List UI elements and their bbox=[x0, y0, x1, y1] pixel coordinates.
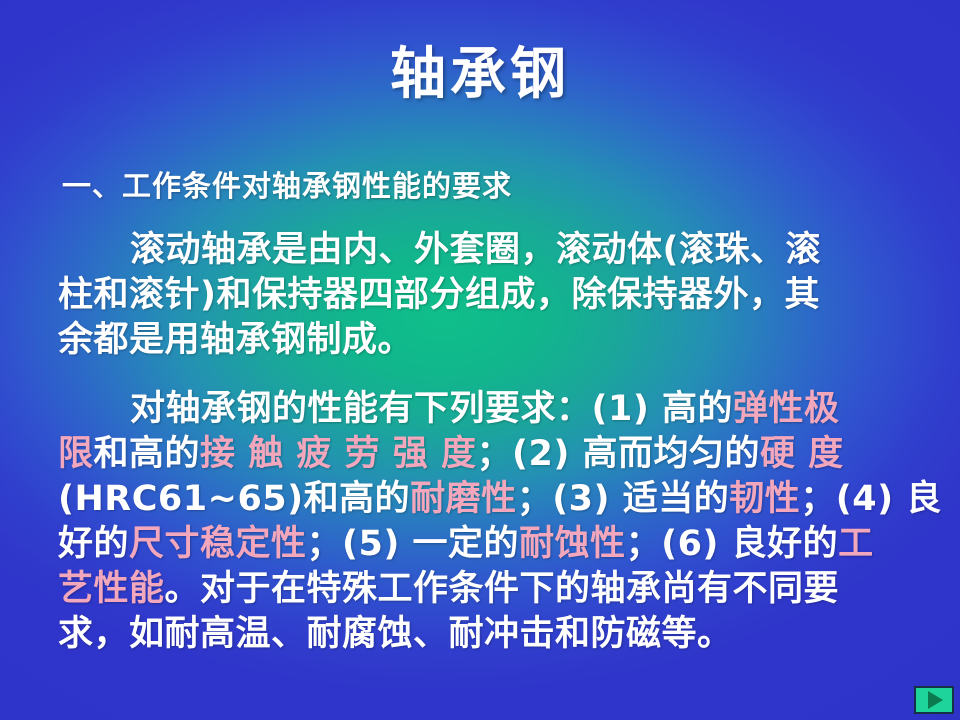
highlighted-term: 硬 度 bbox=[760, 434, 844, 474]
next-slide-button[interactable] bbox=[914, 686, 954, 714]
highlighted-term: 弹性极 bbox=[733, 389, 840, 429]
body-text-run: 滚动轴承是由内、外套圈，滚动体(滚珠、滚 bbox=[130, 230, 821, 270]
body-text-run: 柱和滚针)和保持器四部分组成，除保持器外，其 bbox=[58, 275, 820, 315]
body-text-run: ；(3) 适当的 bbox=[517, 479, 730, 519]
highlighted-term: 耐磨性 bbox=[410, 479, 517, 519]
play-triangle-icon bbox=[928, 691, 943, 709]
highlighted-term: 限 bbox=[58, 434, 94, 474]
paragraph-line: 滚动轴承是由内、外套圈，滚动体(滚珠、滚 bbox=[58, 228, 914, 273]
highlighted-term: 接 触 疲 劳 强 度 bbox=[200, 434, 476, 474]
body-text-run: 余都是用轴承钢制成。 bbox=[58, 320, 413, 360]
paragraph-line: 对轴承钢的性能有下列要求：(1) 高的弹性极 bbox=[58, 387, 914, 432]
highlighted-term: 韧性 bbox=[729, 479, 800, 519]
paragraph-line: (HRC61~65)和高的耐磨性；(3) 适当的韧性；(4) 良 bbox=[58, 477, 914, 522]
body-text-run: (HRC61~65)和高的 bbox=[58, 479, 410, 519]
highlighted-term: 工 bbox=[838, 524, 874, 564]
presentation-slide: 轴承钢 一、工作条件对轴承钢性能的要求 滚动轴承是由内、外套圈，滚动体(滚珠、滚… bbox=[0, 0, 960, 720]
body-text-run: ；(2) 高而均匀的 bbox=[476, 434, 760, 474]
body-text-run: ；(6) 良好的 bbox=[626, 524, 839, 564]
paragraph-line: 求，如耐高温、耐腐蚀、耐冲击和防磁等。 bbox=[58, 612, 914, 657]
body-text-run: 和高的 bbox=[94, 434, 201, 474]
body-text-run: 求，如耐高温、耐腐蚀、耐冲击和防磁等。 bbox=[58, 614, 733, 654]
body-text-run: 。对于在特殊工作条件下的轴承尚有不同要 bbox=[165, 569, 840, 609]
paragraph-performance-requirements: 对轴承钢的性能有下列要求：(1) 高的弹性极限和高的接 触 疲 劳 强 度；(2… bbox=[58, 387, 914, 657]
section-heading: 一、工作条件对轴承钢性能的要求 bbox=[62, 163, 512, 205]
highlighted-term: 耐蚀性 bbox=[519, 524, 626, 564]
highlighted-term: 艺性能 bbox=[58, 569, 165, 609]
paragraph-line: 柱和滚针)和保持器四部分组成，除保持器外，其 bbox=[58, 273, 914, 318]
paragraph-line: 艺性能。对于在特殊工作条件下的轴承尚有不同要 bbox=[58, 567, 914, 612]
body-text-run: 好的 bbox=[58, 524, 129, 564]
body-text-run: ；(5) 一定的 bbox=[307, 524, 520, 564]
paragraph-line: 限和高的接 触 疲 劳 强 度；(2) 高而均匀的硬 度 bbox=[58, 432, 914, 477]
paragraph-line: 好的尺寸稳定性；(5) 一定的耐蚀性；(6) 良好的工 bbox=[58, 522, 914, 567]
paragraph-rolling-bearing: 滚动轴承是由内、外套圈，滚动体(滚珠、滚柱和滚针)和保持器四部分组成，除保持器外… bbox=[58, 228, 914, 363]
body-text-run: ；(4) 良 bbox=[800, 479, 942, 519]
highlighted-term: 尺寸稳定性 bbox=[129, 524, 307, 564]
body-text-run: 对轴承钢的性能有下列要求：(1) 高的 bbox=[130, 389, 733, 429]
slide-title: 轴承钢 bbox=[0, 44, 960, 106]
paragraph-line: 余都是用轴承钢制成。 bbox=[58, 318, 914, 363]
